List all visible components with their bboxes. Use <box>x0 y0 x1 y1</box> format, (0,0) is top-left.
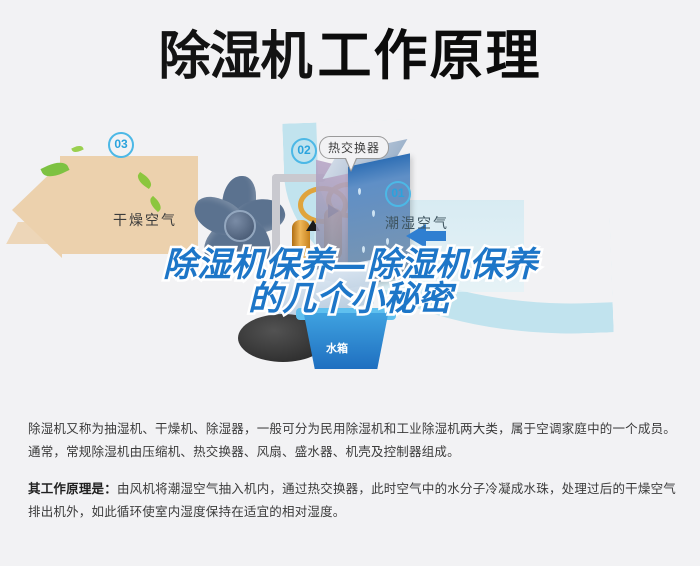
page-root: 除湿机工作原理 <box>0 0 700 566</box>
dry-air-label: 干燥空气 <box>113 210 177 230</box>
page-title: 除湿机工作原理 <box>0 28 700 85</box>
heat-exchanger-callout-bubble: 热交换器 <box>319 136 389 159</box>
page-title-part1: 除湿机 <box>158 27 311 87</box>
body-paragraph-2: 其工作原理是：由风机将潮湿空气抽入机内，通过热交换器，此时空气中的水分子冷凝成水… <box>28 478 676 524</box>
water-tank-label: 水箱 <box>326 340 348 356</box>
pipe <box>272 174 280 266</box>
callout-badge-01: 01 <box>385 181 411 207</box>
moist-air-label: 潮湿空气 <box>385 213 449 233</box>
body-paragraph-2-rest: 由风机将潮湿空气抽入机内，通过热交换器，此时空气中的水分子冷凝成水珠，处理过后的… <box>28 482 676 519</box>
page-title-part2: 工作原理 <box>318 26 542 86</box>
article-body: 除湿机又称为抽湿机、干燥机、除湿器，一般可分为民用除湿机和工业除湿机两大类，属于… <box>28 418 676 538</box>
leaf-icon <box>71 144 84 154</box>
callout-badge-02: 02 <box>291 138 317 164</box>
body-paragraph-2-lead: 其工作原理是： <box>28 482 117 496</box>
callout-badge-03: 03 <box>108 132 134 158</box>
fan-hub <box>224 210 256 242</box>
body-paragraph-1: 除湿机又称为抽湿机、干燥机、除湿器，一般可分为民用除湿机和工业除湿机两大类，属于… <box>28 418 676 464</box>
dehumidifier-diagram: 水箱 03 02 01 热交换器 干燥空气 潮湿空气 01 风机将潮湿空气抽入机… <box>0 118 700 390</box>
